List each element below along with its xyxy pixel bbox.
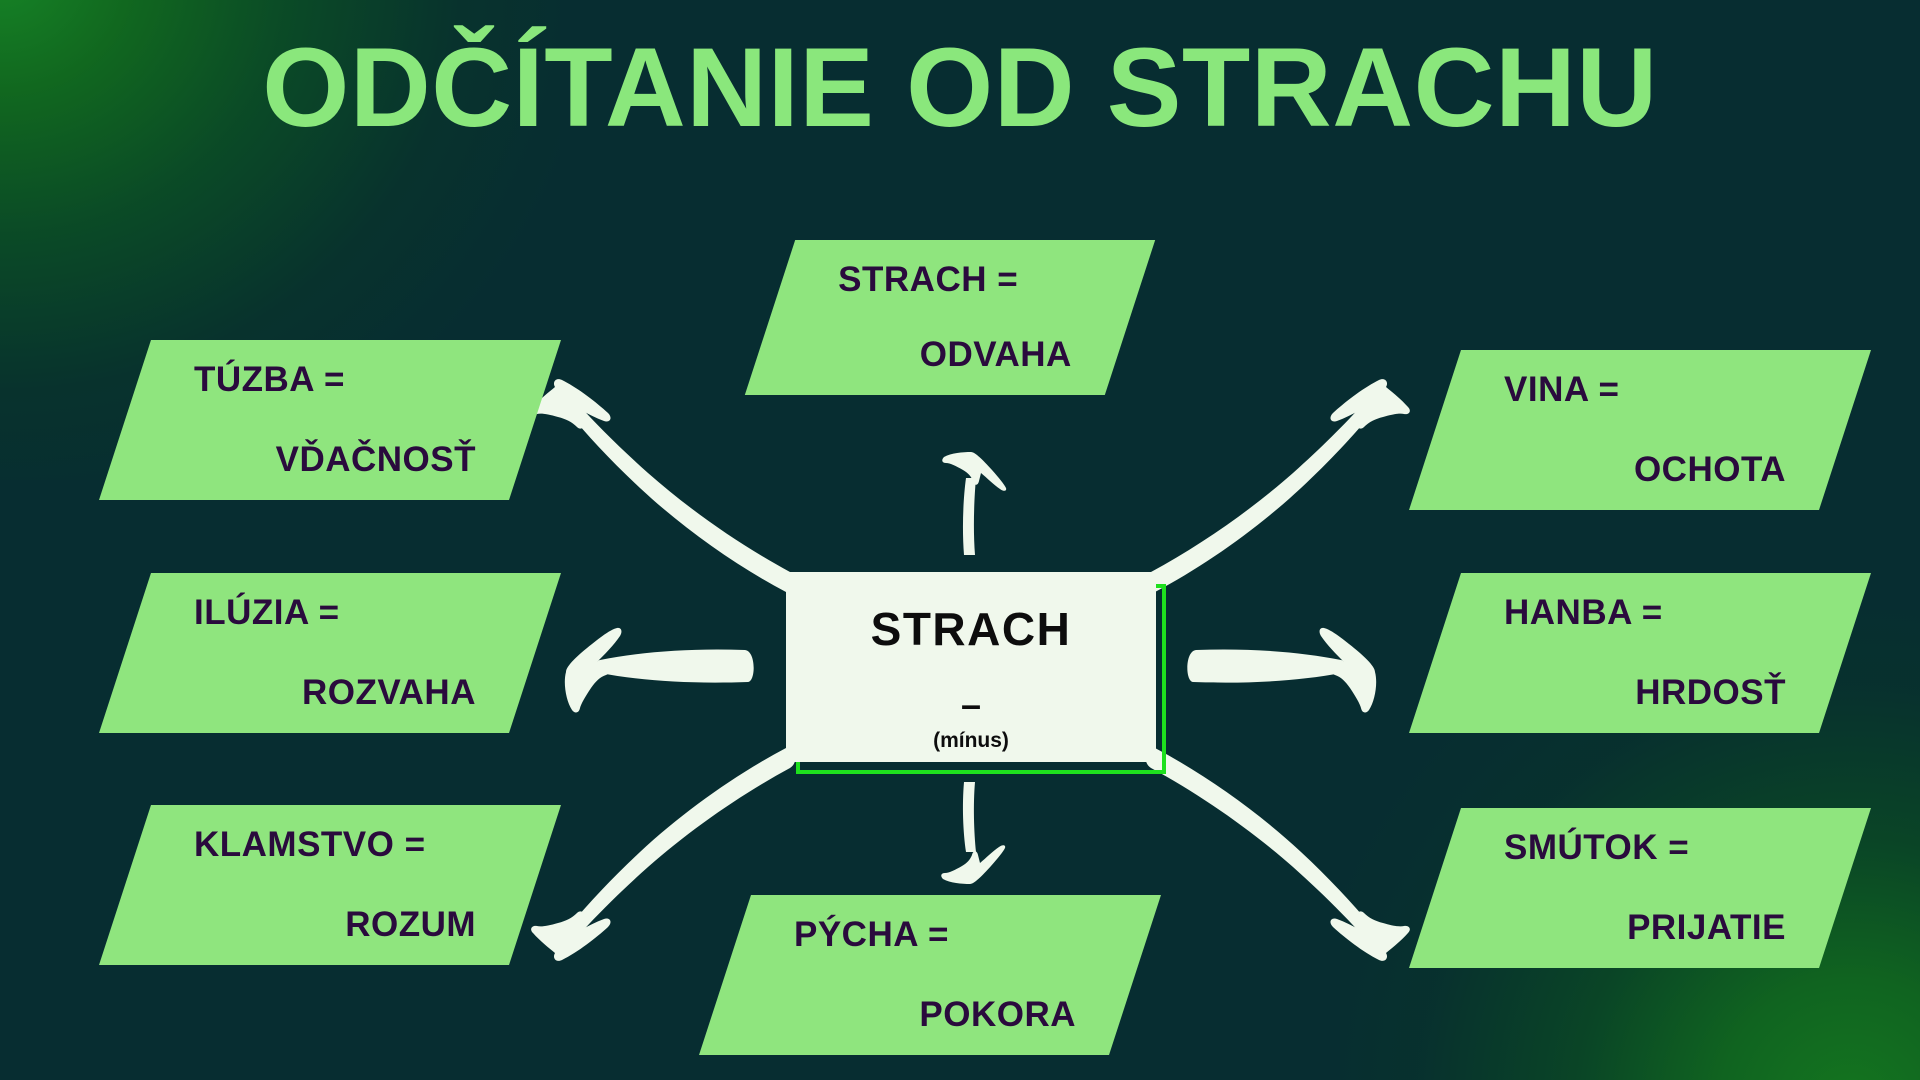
card-right-smutok[interactable]: SMÚTOK = PRIJATIE — [1409, 808, 1871, 968]
arrow-curve-upper-left-icon — [531, 379, 795, 593]
slide-canvas: ODČÍTANIE OD STRACHU — [0, 0, 1920, 1080]
card-line-b: POKORA — [768, 995, 1076, 1035]
card-line-b: HRDOSŤ — [1478, 673, 1786, 713]
card-left-klamstvo[interactable]: KLAMSTVO = ROZUM — [99, 805, 561, 965]
card-line-b: VĎAČNOSŤ — [168, 440, 476, 480]
card-line-a: ILÚZIA = — [194, 593, 502, 633]
card-line-a: SMÚTOK = — [1504, 828, 1812, 868]
center-box[interactable]: STRACH – (mínus) — [786, 572, 1156, 762]
card-line-b: PRIJATIE — [1478, 908, 1786, 948]
card-line-a: HANBA = — [1504, 593, 1812, 633]
arrow-curve-lower-right-icon — [1145, 747, 1409, 961]
card-left-tuzba[interactable]: TÚZBA = VĎAČNOSŤ — [99, 340, 561, 500]
card-line-b: OCHOTA — [1478, 450, 1786, 490]
arrow-up-to-top-icon — [942, 452, 1006, 555]
card-line-b: ROZUM — [168, 905, 476, 945]
center-operator-label: (mínus) — [933, 729, 1009, 753]
page-title: ODČÍTANIE OD STRACHU — [0, 28, 1920, 149]
card-line-b: ODVAHA — [814, 335, 1072, 375]
arrow-left-straight-icon — [565, 628, 754, 713]
card-line-a: KLAMSTVO = — [194, 825, 502, 865]
card-right-hanba[interactable]: HANBA = HRDOSŤ — [1409, 573, 1871, 733]
card-line-a: STRACH = — [838, 260, 1096, 300]
center-operator: – — [961, 692, 981, 717]
center-node[interactable]: STRACH – (mínus) — [786, 572, 1156, 762]
card-top-odvaha[interactable]: STRACH = ODVAHA — [745, 240, 1155, 395]
card-line-a: PÝCHA = — [794, 915, 1102, 955]
card-line-a: VINA = — [1504, 370, 1812, 410]
center-term: STRACH — [871, 602, 1072, 656]
arrow-right-straight-icon — [1187, 628, 1376, 713]
card-bottom-pycha[interactable]: PÝCHA = POKORA — [699, 895, 1161, 1055]
card-left-iluzia[interactable]: ILÚZIA = ROZVAHA — [99, 573, 561, 733]
card-line-a: TÚZBA = — [194, 360, 502, 400]
card-right-vina[interactable]: VINA = OCHOTA — [1409, 350, 1871, 510]
arrow-curve-upper-right-icon — [1145, 379, 1409, 593]
card-line-b: ROZVAHA — [168, 673, 476, 713]
arrow-down-to-bottom-icon — [941, 782, 1005, 884]
